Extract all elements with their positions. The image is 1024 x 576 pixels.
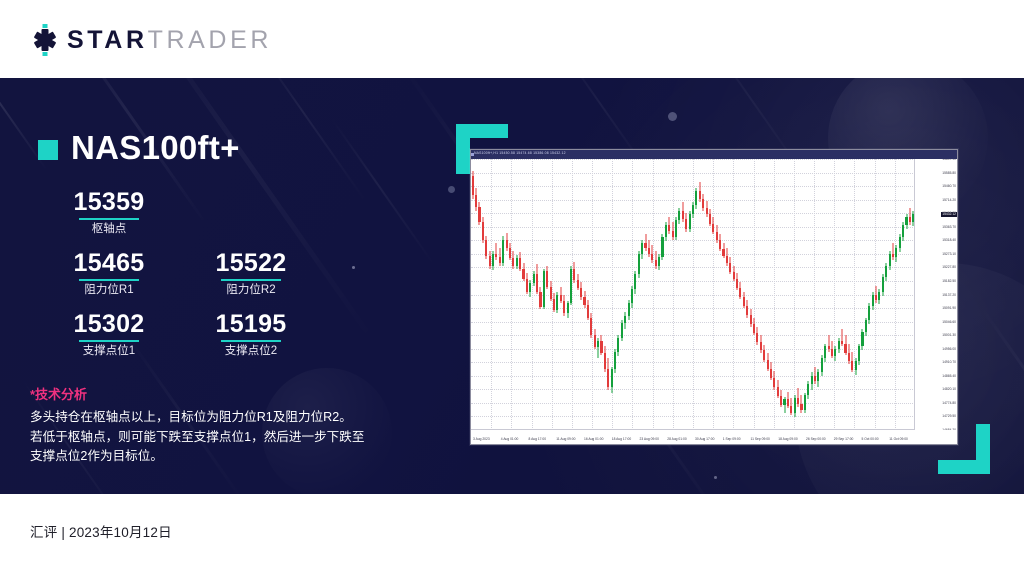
price-axis-tick: 15714.20	[942, 198, 956, 202]
candlestick	[817, 159, 819, 430]
candlestick	[855, 159, 857, 430]
time-axis-tick: 11 Aug 09:00	[556, 437, 575, 441]
candlestick	[533, 159, 535, 430]
candlestick	[729, 159, 731, 430]
candlestick	[522, 159, 524, 430]
candlestick	[858, 159, 860, 430]
price-axis-tick: 14865.40	[942, 374, 956, 378]
candlestick	[699, 159, 701, 430]
price-axis-tick: 15182.50	[942, 279, 956, 283]
level-underline	[79, 340, 139, 342]
candlestick	[519, 159, 521, 430]
candlestick	[563, 159, 565, 430]
analysis-line-2: 若低于枢轴点，则可能下跌至支撑点位1，然后进一步下跌至	[30, 428, 420, 448]
candlestick	[736, 159, 738, 430]
candlestick	[492, 159, 494, 430]
time-axis-tick: 26 Sep 00:00	[806, 437, 826, 441]
candlestick	[604, 159, 606, 430]
chart-titlebar-text: NAS100ft+,H1 15450.58 15474.68 15386.08 …	[474, 151, 566, 155]
candlestick	[838, 159, 840, 430]
candlestick	[611, 159, 613, 430]
candlestick	[489, 159, 491, 430]
candlestick	[800, 159, 802, 430]
levels-row-pivot: 15359 枢轴点	[38, 188, 398, 237]
candlestick	[648, 159, 650, 430]
candlestick	[682, 159, 684, 430]
price-axis-tick: 15137.20	[942, 293, 956, 297]
header-bar: STARTRADER	[0, 0, 1024, 78]
analysis-line-1: 多头持仓在枢轴点以上，目标位为阻力位R1及阻力位R2。	[30, 408, 420, 428]
candlestick	[739, 159, 741, 430]
candlestick	[590, 159, 592, 430]
candlestick	[875, 159, 877, 430]
candlestick	[719, 159, 721, 430]
time-axis-tick: 4 Aug 01:00	[501, 437, 519, 441]
candlestick	[502, 159, 504, 430]
levels-row-support: 15302 支撑点位1 15195 支撑点位2	[38, 310, 398, 359]
candlestick	[885, 159, 887, 430]
candlestick	[573, 159, 575, 430]
levels-row-resistance: 15465 阻力位R1 15522 阻力位R2	[38, 249, 398, 298]
level-value: 15359	[38, 188, 180, 217]
level-label: 枢轴点	[38, 222, 180, 237]
candlestick	[811, 159, 813, 430]
candlestick	[753, 159, 755, 430]
level-support-1: 15302 支撑点位1	[38, 310, 180, 359]
candlestick	[512, 159, 514, 430]
candlestick	[770, 159, 772, 430]
candlestick	[556, 159, 558, 430]
candlestick	[722, 159, 724, 430]
candlestick	[865, 159, 867, 430]
chart-time-axis[interactable]: 3 Aug 20234 Aug 01:008 Aug 17:0011 Aug 0…	[471, 429, 915, 444]
time-axis-tick: 1 Sep 09:00	[723, 437, 741, 441]
candlestick	[909, 159, 911, 430]
level-resistance-1: 15465 阻力位R1	[38, 249, 180, 298]
price-axis-tick: 15585.80	[942, 171, 956, 175]
candlestick	[614, 159, 616, 430]
candlestick	[516, 159, 518, 430]
price-axis-tick: 14956.00	[942, 347, 956, 351]
candlestick	[658, 159, 660, 430]
candlestick	[553, 159, 555, 430]
candlestick	[617, 159, 619, 430]
candlestick	[587, 159, 589, 430]
candlestick	[902, 159, 904, 430]
candlestick	[878, 159, 880, 430]
candlestick	[526, 159, 528, 430]
candlestick	[641, 159, 643, 430]
footer-caption: 汇评 | 2023年10月12日	[30, 524, 172, 542]
candlestick	[783, 159, 785, 430]
candlestick	[638, 159, 640, 430]
candlestick	[543, 159, 545, 430]
price-axis-tick: 15607.90	[942, 159, 956, 161]
decorative-dot	[668, 112, 677, 121]
candlestick	[807, 159, 809, 430]
candlestick	[794, 159, 796, 430]
time-axis-tick: 29 Sep 17:00	[834, 437, 854, 441]
candlestick	[675, 159, 677, 430]
level-label: 阻力位R2	[180, 283, 322, 298]
candlestick	[567, 159, 569, 430]
candlestick	[889, 159, 891, 430]
candlestick	[743, 159, 745, 430]
level-label: 支撑点位2	[180, 344, 322, 359]
price-axis-tick: 15363.70	[942, 225, 956, 229]
candlestick	[665, 159, 667, 430]
level-underline	[79, 279, 139, 281]
candlestick	[750, 159, 752, 430]
time-axis-tick: 18 Aug 09:00	[778, 437, 797, 441]
candlestick	[560, 159, 562, 430]
candlestick	[529, 159, 531, 430]
candlestick	[695, 159, 697, 430]
chart-price-axis[interactable]: 15607.9015585.8015460.7015714.2015409.00…	[914, 159, 957, 430]
level-support-2: 15195 支撑点位2	[180, 310, 322, 359]
candlestick	[485, 159, 487, 430]
candlestick	[834, 159, 836, 430]
price-axis-tick: 15227.80	[942, 265, 956, 269]
candlestick	[475, 159, 477, 430]
candlestick	[499, 159, 501, 430]
candlestick	[763, 159, 765, 430]
candlestick	[644, 159, 646, 430]
candlestick	[702, 159, 704, 430]
candlestick	[678, 159, 680, 430]
analysis-block: *技术分析 多头持仓在枢轴点以上，目标位为阻力位R1及阻力位R2。 若低于枢轴点…	[30, 386, 420, 467]
candlestick	[787, 159, 789, 430]
candlestick	[600, 159, 602, 430]
candlestick	[672, 159, 674, 430]
candlestick	[539, 159, 541, 430]
candlestick	[773, 159, 775, 430]
square-marker-icon	[38, 140, 58, 160]
price-axis-tick: 14910.70	[942, 360, 956, 364]
analysis-line-3: 支撑点位2作为目标位。	[30, 447, 420, 467]
candlestick	[790, 159, 792, 430]
analysis-title: *技术分析	[30, 386, 420, 404]
candlestick	[631, 159, 633, 430]
candlestick	[689, 159, 691, 430]
level-label: 阻力位R1	[38, 283, 180, 298]
candlestick	[634, 159, 636, 430]
level-underline	[221, 340, 281, 342]
candlestick	[841, 159, 843, 430]
candlestick	[580, 159, 582, 430]
candlestick	[712, 159, 714, 430]
price-axis-tick: 14684.20	[942, 428, 956, 430]
level-underline	[221, 279, 281, 281]
level-resistance-2: 15522 阻力位R2	[180, 249, 322, 298]
brand-logo: STARTRADER	[30, 24, 272, 56]
level-value: 15465	[38, 249, 180, 278]
price-axis-tick: 15091.90	[942, 306, 956, 310]
price-axis-tick: 15001.30	[942, 333, 956, 337]
candlestick	[824, 159, 826, 430]
candlestick	[478, 159, 480, 430]
price-axis-tick: 15460.70	[942, 184, 956, 188]
level-value: 15302	[38, 310, 180, 339]
candlestick	[777, 159, 779, 430]
price-axis-tick: 14820.10	[942, 387, 956, 391]
candlestick	[716, 159, 718, 430]
candlestick	[746, 159, 748, 430]
time-axis-tick: 18 Aug 17:00	[612, 437, 631, 441]
current-price-label: 15432.12	[941, 212, 957, 217]
candlestick	[482, 159, 484, 430]
candlestick	[882, 159, 884, 430]
level-value: 15522	[180, 249, 322, 278]
candlestick	[726, 159, 728, 430]
candlestick	[895, 159, 897, 430]
candlestick	[577, 159, 579, 430]
candlestick	[821, 159, 823, 430]
candlestick	[892, 159, 894, 430]
candlestick	[709, 159, 711, 430]
chart-titlebar: NAS100ft+,H1 15450.58 15474.68 15386.08 …	[471, 150, 957, 159]
candlestick	[831, 159, 833, 430]
candlestick	[844, 159, 846, 430]
analysis-body: 多头持仓在枢轴点以上，目标位为阻力位R1及阻力位R2。 若低于枢轴点，则可能下跌…	[30, 408, 420, 467]
symbol-title-row: NAS100ft+	[38, 130, 240, 166]
poster-root: STARTRADER NAS100ft+	[0, 0, 1024, 576]
candlestick	[848, 159, 850, 430]
price-axis-tick: 15318.40	[942, 238, 956, 242]
price-axis-tick: 15046.60	[942, 320, 956, 324]
candlestick	[733, 159, 735, 430]
level-label: 支撑点位1	[38, 344, 180, 359]
candlestick	[509, 159, 511, 430]
candlestick	[756, 159, 758, 430]
time-axis-tick: 11 Oct 09:00	[889, 437, 908, 441]
time-axis-tick: 5 Oct 00:00	[862, 437, 879, 441]
candlestick	[872, 159, 874, 430]
candlestick	[607, 159, 609, 430]
time-axis-tick: 28 Aug 01:00	[667, 437, 686, 441]
level-underline	[79, 218, 139, 220]
candlestick	[706, 159, 708, 430]
candlestick	[536, 159, 538, 430]
level-value: 15195	[180, 310, 322, 339]
decorative-streak	[250, 78, 366, 202]
footer-bar: 汇评 | 2023年10月12日	[0, 494, 1024, 576]
candlestick	[814, 159, 816, 430]
brand-name-light: TRADER	[148, 26, 272, 54]
candlestick	[804, 159, 806, 430]
candlestick	[767, 159, 769, 430]
decorative-dot	[714, 476, 717, 479]
time-axis-tick: 16 Aug 01:00	[584, 437, 603, 441]
candlestick	[546, 159, 548, 430]
candlestick	[861, 159, 863, 430]
price-axis-tick: 15273.10	[942, 252, 956, 256]
candlestick	[624, 159, 626, 430]
level-pivot: 15359 枢轴点	[38, 188, 180, 237]
candlestick	[621, 159, 623, 430]
price-axis-tick: 14774.80	[942, 401, 956, 405]
candlestick	[692, 159, 694, 430]
candlestick	[594, 159, 596, 430]
candlestick	[583, 159, 585, 430]
time-axis-tick: 11 Sep 09:00	[751, 437, 770, 441]
candlestick	[668, 159, 670, 430]
candlestick	[868, 159, 870, 430]
time-axis-tick: 8 Aug 17:00	[529, 437, 547, 441]
candlestick	[550, 159, 552, 430]
candlestick	[570, 159, 572, 430]
candlestick	[851, 159, 853, 430]
candlestick	[655, 159, 657, 430]
asterisk-star-icon	[30, 24, 60, 56]
candlestick	[661, 159, 663, 430]
time-axis-tick: 3 Aug 2023	[473, 437, 490, 441]
candlestick	[760, 159, 762, 430]
candlestick	[472, 159, 474, 430]
candlestick	[905, 159, 907, 430]
time-axis-tick: 23 Aug 09:00	[640, 437, 659, 441]
brand-name-bold: STAR	[67, 26, 148, 54]
candlestick-chart-panel[interactable]: NAS100ft+,H1 15450.58 15474.68 15386.08 …	[470, 149, 958, 445]
candlestick	[628, 159, 630, 430]
candlestick	[506, 159, 508, 430]
decorative-dot	[448, 186, 455, 193]
levels-grid: 15359 枢轴点 15465 阻力位R1 15522 阻力位R2 15302 …	[38, 188, 398, 371]
page-title: NAS100ft+	[71, 130, 240, 166]
price-axis-tick: 14729.50	[942, 414, 956, 418]
candlestick	[899, 159, 901, 430]
chart-plot-area[interactable]	[471, 159, 915, 430]
candlestick	[797, 159, 799, 430]
candlestick	[495, 159, 497, 430]
time-axis-tick: 30 Aug 17:00	[695, 437, 714, 441]
candlestick	[597, 159, 599, 430]
candlestick	[651, 159, 653, 430]
candlestick	[685, 159, 687, 430]
candlestick	[780, 159, 782, 430]
candlestick	[828, 159, 830, 430]
